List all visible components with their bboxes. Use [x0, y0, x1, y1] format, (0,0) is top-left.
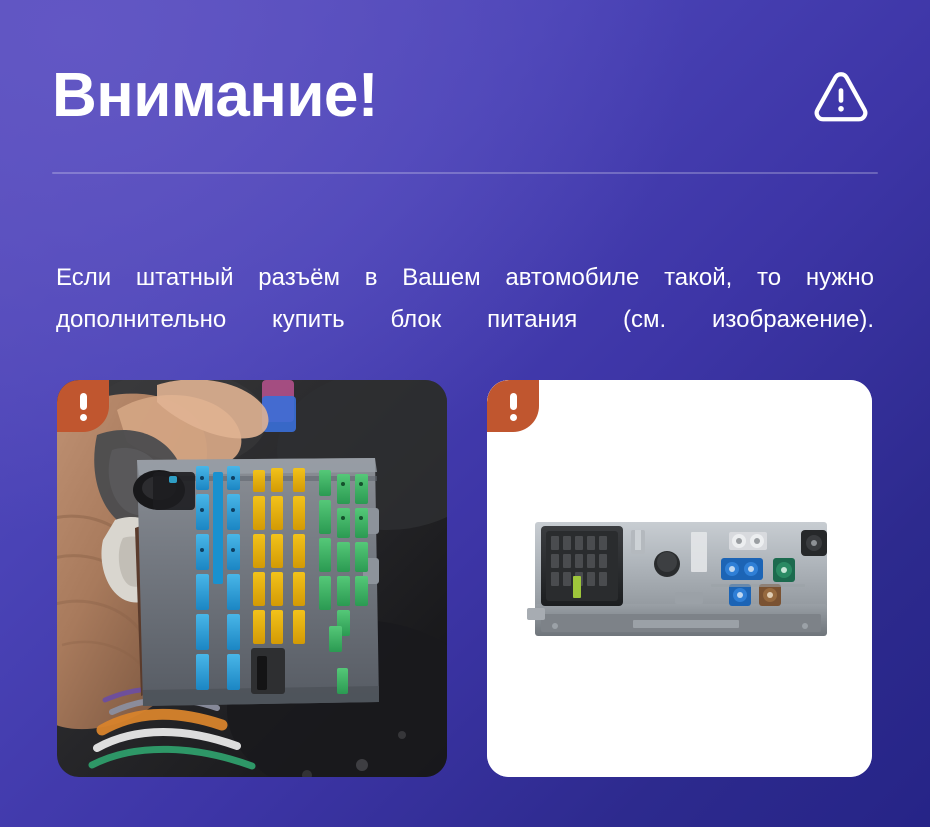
exclamation-dot [80, 414, 87, 421]
product-stage [487, 380, 872, 777]
header-divider [52, 172, 878, 174]
header: Внимание! [52, 48, 878, 144]
connector-photo-card[interactable] [57, 380, 447, 777]
exclamation-icon [510, 393, 517, 410]
warning-badge [57, 380, 109, 432]
warning-triangle-icon [810, 65, 872, 127]
connector-photo [57, 380, 447, 777]
warning-badge [487, 380, 539, 432]
exclamation-dot [510, 414, 517, 421]
warning-paragraph: Если штатный разъём в Вашем автомобиле т… [56, 257, 874, 383]
exclamation-icon [80, 393, 87, 410]
warning-slide: Внимание! Если штатный разъём в Вашем ав… [0, 0, 930, 827]
power-supply-card[interactable] [487, 380, 872, 777]
page-title: Внимание! [52, 65, 378, 127]
power-supply-photo [515, 496, 845, 661]
